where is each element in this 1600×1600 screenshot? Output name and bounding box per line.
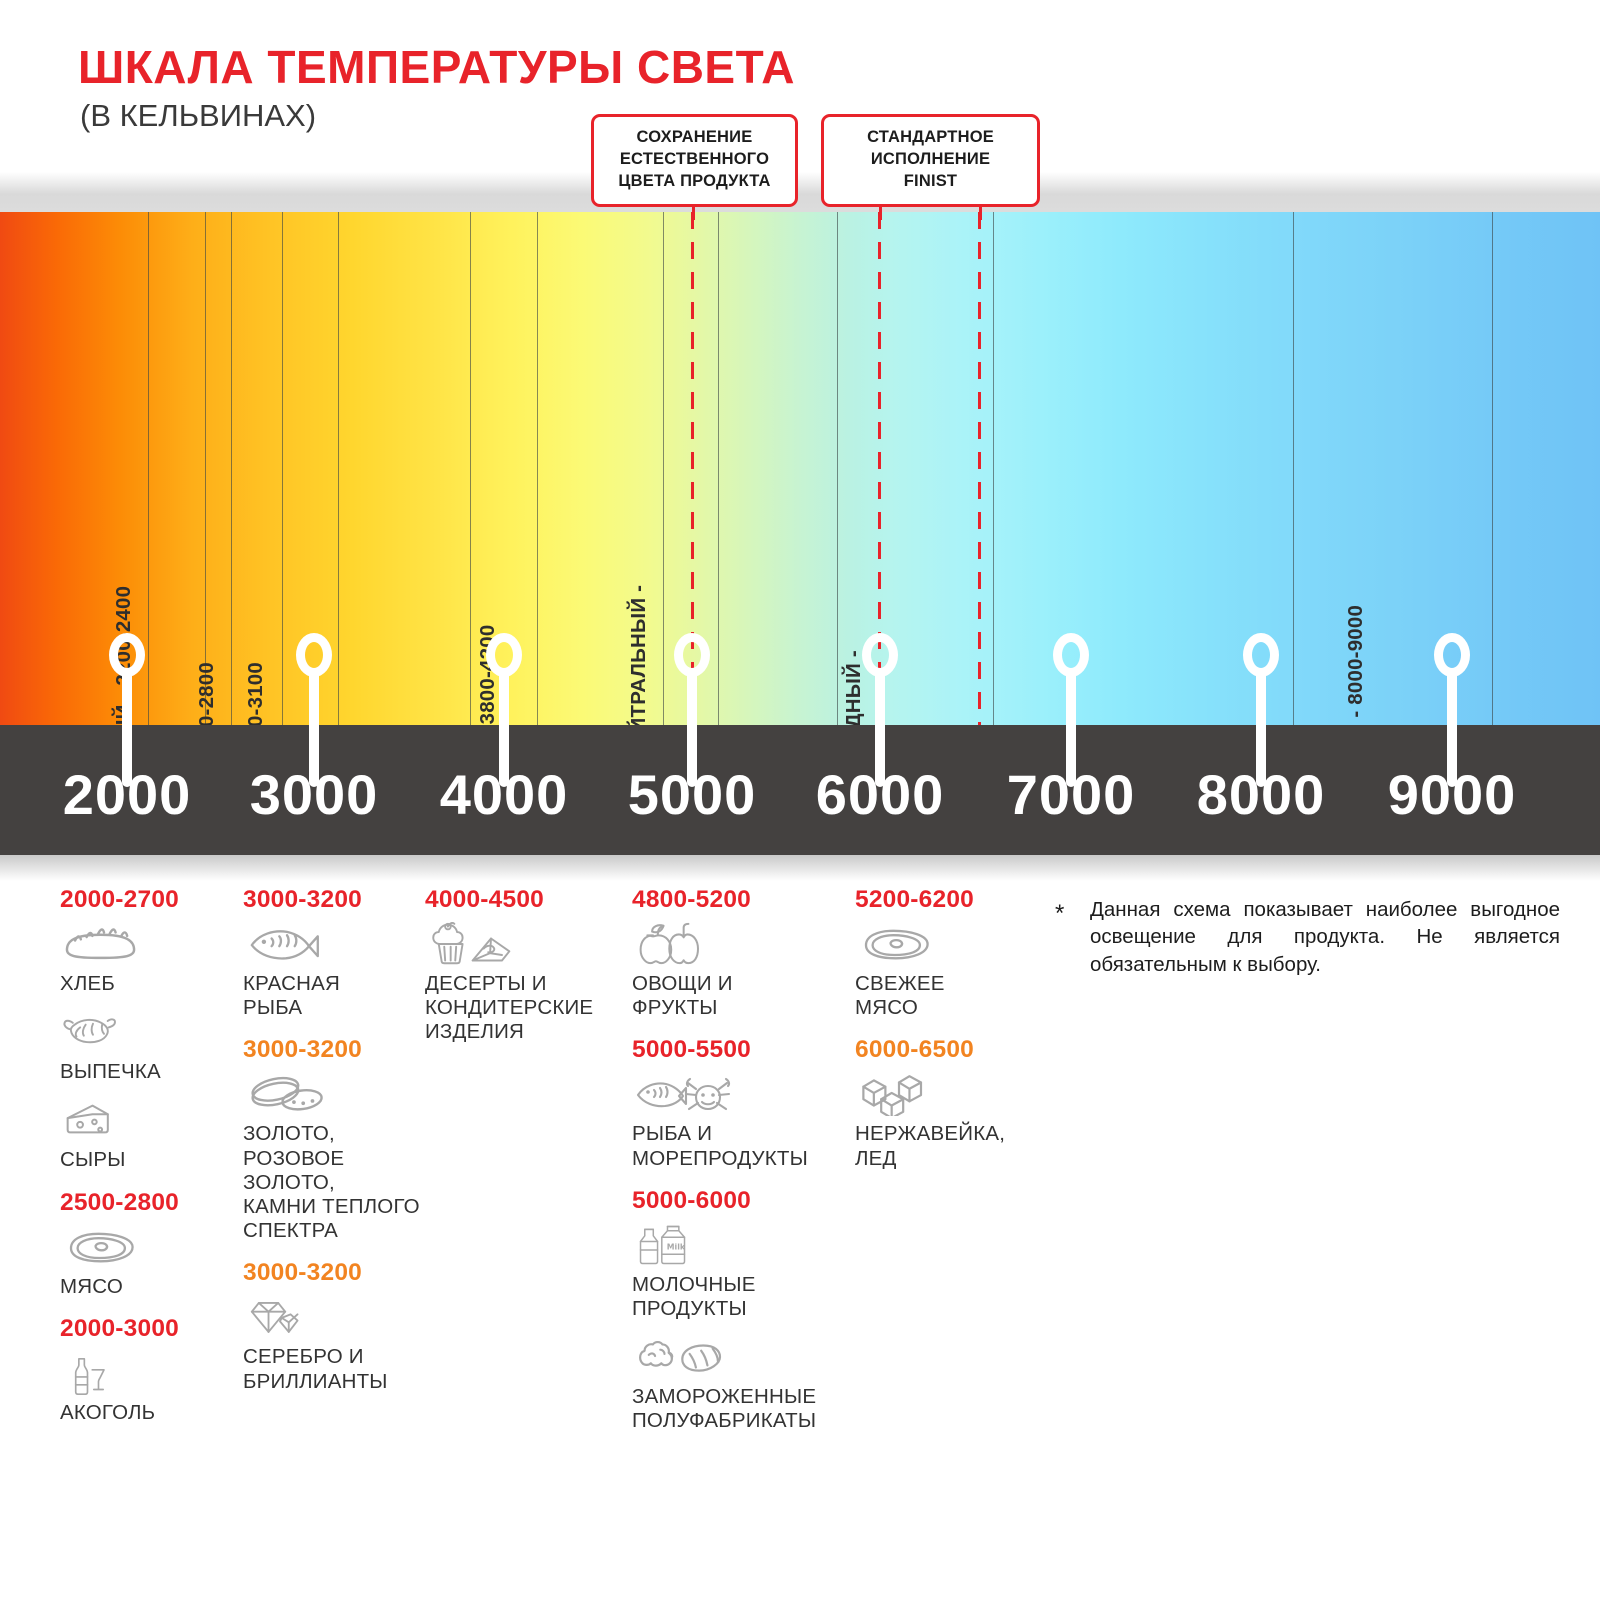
legend-item-label: МОЛОЧНЫЕ ПРОДУКТЫ xyxy=(632,1273,847,1321)
legend-column: 5200-6200СВЕЖЕЕМЯСО6000-6500НЕРЖАВЕЙКА,Л… xyxy=(855,886,1035,1187)
scale-number-2000: 2000 xyxy=(63,762,192,827)
scale-number-8000: 8000 xyxy=(1197,762,1326,827)
callout-line-2: ИСПОЛНЕНИЕ xyxy=(836,149,1025,171)
svg-text:Milk: Milk xyxy=(667,1242,686,1251)
legend-range-label: 4800-5200 xyxy=(632,886,847,914)
legend-item-label: НЕРЖАВЕЙКА,ЛЕД xyxy=(855,1122,1035,1170)
legend-group: 3000-3200ЗОЛОТО,РОЗОВОЕ ЗОЛОТО,КАМНИ ТЕП… xyxy=(243,1036,423,1243)
band-divider xyxy=(1293,212,1294,725)
legend-range-label: 5200-6200 xyxy=(855,886,1035,914)
legend-range-label: 3000-3200 xyxy=(243,886,423,914)
legend-column: 2000-2700ХЛЕБВЫПЕЧКАСЫРЫ2500-2800МЯСО200… xyxy=(60,886,235,1441)
footnote-text: Данная схема показывает наиболее выгодно… xyxy=(1090,896,1560,978)
frozen-food-icon xyxy=(632,1335,847,1381)
band-label-daylight-neutral: ДНЕВНОЙ НЕЙТРАЛЬНЫЙ - 4800-5200 xyxy=(627,585,675,725)
legend-item: ЗОЛОТО,РОЗОВОЕ ЗОЛОТО,КАМНИ ТЕПЛОГОСПЕКТ… xyxy=(243,1072,423,1243)
legend-item: ХЛЕБ xyxy=(60,922,235,996)
fresh-meat-icon xyxy=(855,922,1035,968)
dashed-marker-finist-end xyxy=(978,212,981,725)
legend-item-label: ВЫПЕЧКА xyxy=(60,1060,235,1084)
band-divider xyxy=(537,212,538,725)
legend-column: 3000-3200КРАСНАЯРЫБА3000-3200ЗОЛОТО,РОЗО… xyxy=(243,886,423,1410)
seafood-icon xyxy=(632,1072,847,1118)
scale-band xyxy=(0,725,1600,855)
legend-group: 5000-5500РЫБА ИМОРЕПРОДУКТЫ xyxy=(632,1036,847,1170)
legend-item: РЫБА ИМОРЕПРОДУКТЫ xyxy=(632,1072,847,1170)
legend-item: ЗАМОРОЖЕННЫЕПОЛУФАБРИКАТЫ xyxy=(632,1335,847,1433)
legend-item-label: ЗАМОРОЖЕННЫЕПОЛУФАБРИКАТЫ xyxy=(632,1385,847,1433)
band-divider xyxy=(338,212,339,725)
legend-item: МЯСО xyxy=(60,1225,235,1299)
legend-range-label: 3000-3200 xyxy=(243,1259,423,1287)
legend-item-label: ХЛЕБ xyxy=(60,972,235,996)
legend-range-label: 6000-6500 xyxy=(855,1036,1035,1064)
legend-item: MilkМОЛОЧНЫЕ ПРОДУКТЫ xyxy=(632,1223,847,1321)
legend-group: 5000-6000MilkМОЛОЧНЫЕ ПРОДУКТЫЗАМОРОЖЕНН… xyxy=(632,1187,847,1434)
legend-item-label: СЫРЫ xyxy=(60,1148,235,1172)
steak-icon xyxy=(60,1225,235,1271)
legend-column: 4000-4500ДЕСЕРТЫ ИКОНДИТЕРСКИЕИЗДЕЛИЯ xyxy=(425,886,620,1061)
ice-cubes-icon xyxy=(855,1072,1035,1118)
band-shadow xyxy=(0,855,1600,881)
legend-item: ДЕСЕРТЫ ИКОНДИТЕРСКИЕИЗДЕЛИЯ xyxy=(425,922,620,1045)
legend-group: 4000-4500ДЕСЕРТЫ ИКОНДИТЕРСКИЕИЗДЕЛИЯ xyxy=(425,886,620,1045)
footnote-asterisk: * xyxy=(1055,900,1064,928)
diamond-icon xyxy=(243,1295,423,1341)
band-label-cold: ХОЛОДНЫЙ - 8000-9000 xyxy=(1344,605,1368,725)
callout-line-2: ЕСТЕСТВЕННОГО xyxy=(606,149,783,171)
legend-group: 2000-2700ХЛЕБВЫПЕЧКАСЫРЫ xyxy=(60,886,235,1173)
legend-item: НЕРЖАВЕЙКА,ЛЕД xyxy=(855,1072,1035,1170)
band-divider xyxy=(993,212,994,725)
legend-item: АКОГОЛЬ xyxy=(60,1351,235,1425)
legend-group: 6000-6500НЕРЖАВЕЙКА,ЛЕД xyxy=(855,1036,1035,1170)
legend-item-label: КРАСНАЯРЫБА xyxy=(243,972,423,1020)
band-divider xyxy=(470,212,471,725)
legend-item: СЕРЕБРО ИБРИЛЛИАНТЫ xyxy=(243,1295,423,1393)
grey-strip xyxy=(0,172,1600,212)
legend-item: ВЫПЕЧКА xyxy=(60,1010,235,1084)
legend-column: 4800-5200ОВОЩИ ИФРУКТЫ5000-5500РЫБА ИМОР… xyxy=(632,886,847,1450)
legend-item-label: МЯСО xyxy=(60,1275,235,1299)
infographic-root: ШКАЛА ТЕМПЕРАТУРЫ СВЕТА (В КЕЛЬВИНАХ) СО… xyxy=(0,0,1600,1600)
legend-range-label: 2500-2800 xyxy=(60,1189,235,1217)
page-subtitle: (В КЕЛЬВИНАХ) xyxy=(80,98,316,134)
callout-line-3: FINIST xyxy=(836,171,1025,193)
legend-group: 2000-3000АКОГОЛЬ xyxy=(60,1315,235,1425)
legend-group: 3000-3200КРАСНАЯРЫБА xyxy=(243,886,423,1020)
legend-range-label: 2000-3000 xyxy=(60,1315,235,1343)
scale-number-5000: 5000 xyxy=(628,762,757,827)
footnote: * Данная схема показывает наиболее выгод… xyxy=(1055,896,1560,978)
band-divider xyxy=(1492,212,1493,725)
bread-icon xyxy=(60,922,235,968)
band-divider xyxy=(282,212,283,725)
legend-range-label: 4000-4500 xyxy=(425,886,620,914)
legend-item-label: ЗОЛОТО,РОЗОВОЕ ЗОЛОТО,КАМНИ ТЕПЛОГОСПЕКТ… xyxy=(243,1122,423,1243)
legend-item-label: АКОГОЛЬ xyxy=(60,1401,235,1425)
band-divider xyxy=(231,212,232,725)
legend-range-label: 3000-3200 xyxy=(243,1036,423,1064)
callout-natural-color: СОХРАНЕНИЕ ЕСТЕСТВЕННОГО ЦВЕТА ПРОДУКТА xyxy=(591,114,798,207)
scale-number-7000: 7000 xyxy=(1007,762,1136,827)
scale-number-6000: 6000 xyxy=(816,762,945,827)
band-divider xyxy=(837,212,838,725)
band-label-warm-3000: ТЕПЛЫЙ - 2900-3100 (тип K 3000) xyxy=(244,662,292,725)
legend-group: 2500-2800МЯСО xyxy=(60,1189,235,1299)
legend-group: 5200-6200СВЕЖЕЕМЯСО xyxy=(855,886,1035,1020)
band-label-warm-2700: ТЕПЛЫЙ - 2600-2800 (тип K 2700) xyxy=(195,662,243,725)
legend-item: СВЕЖЕЕМЯСО xyxy=(855,922,1035,1020)
legend-range-label: 5000-5500 xyxy=(632,1036,847,1064)
legend-group: 4800-5200ОВОЩИ ИФРУКТЫ xyxy=(632,886,847,1020)
cheese-icon xyxy=(60,1098,235,1144)
cake-icon xyxy=(425,922,620,968)
legend-item-label: ОВОЩИ ИФРУКТЫ xyxy=(632,972,847,1020)
page-title: ШКАЛА ТЕМПЕРАТУРЫ СВЕТА xyxy=(78,40,795,94)
scale-number-3000: 3000 xyxy=(250,762,379,827)
milk-icon: Milk xyxy=(632,1223,847,1269)
legend-item: СЫРЫ xyxy=(60,1098,235,1172)
scale-number-4000: 4000 xyxy=(440,762,569,827)
legend: 2000-2700ХЛЕБВЫПЕЧКАСЫРЫ2500-2800МЯСО200… xyxy=(0,886,1600,1600)
alcohol-icon xyxy=(60,1351,235,1397)
legend-item: КРАСНАЯРЫБА xyxy=(243,922,423,1020)
callout-line-1: СОХРАНЕНИЕ xyxy=(606,127,783,149)
vegetables-icon xyxy=(632,922,847,968)
croissant-icon xyxy=(60,1010,235,1056)
legend-item: ОВОЩИ ИФРУКТЫ xyxy=(632,922,847,1020)
kelvin-gradient-bar: СУПЕР ТЕПЛЫЙ - 2200-2400 (тип K 2400) ТЕ… xyxy=(0,212,1600,725)
callout-finist-standard: СТАНДАРТНОЕ ИСПОЛНЕНИЕ FINIST xyxy=(821,114,1040,207)
callout-line-3: ЦВЕТА ПРОДУКТА xyxy=(606,171,783,193)
band-divider xyxy=(718,212,719,725)
legend-group: 3000-3200СЕРЕБРО ИБРИЛЛИАНТЫ xyxy=(243,1259,423,1393)
fish-icon xyxy=(243,922,423,968)
legend-item-label: СВЕЖЕЕМЯСО xyxy=(855,972,1035,1020)
legend-item-label: РЫБА ИМОРЕПРОДУКТЫ xyxy=(632,1122,847,1170)
legend-range-label: 2000-2700 xyxy=(60,886,235,914)
callout-line-1: СТАНДАРТНОЕ xyxy=(836,127,1025,149)
legend-item-label: ДЕСЕРТЫ ИКОНДИТЕРСКИЕИЗДЕЛИЯ xyxy=(425,972,620,1045)
rings-icon xyxy=(243,1072,423,1118)
scale-number-9000: 9000 xyxy=(1388,762,1517,827)
band-divider xyxy=(205,212,206,725)
legend-item-label: СЕРЕБРО ИБРИЛЛИАНТЫ xyxy=(243,1345,423,1393)
legend-range-label: 5000-6000 xyxy=(632,1187,847,1215)
